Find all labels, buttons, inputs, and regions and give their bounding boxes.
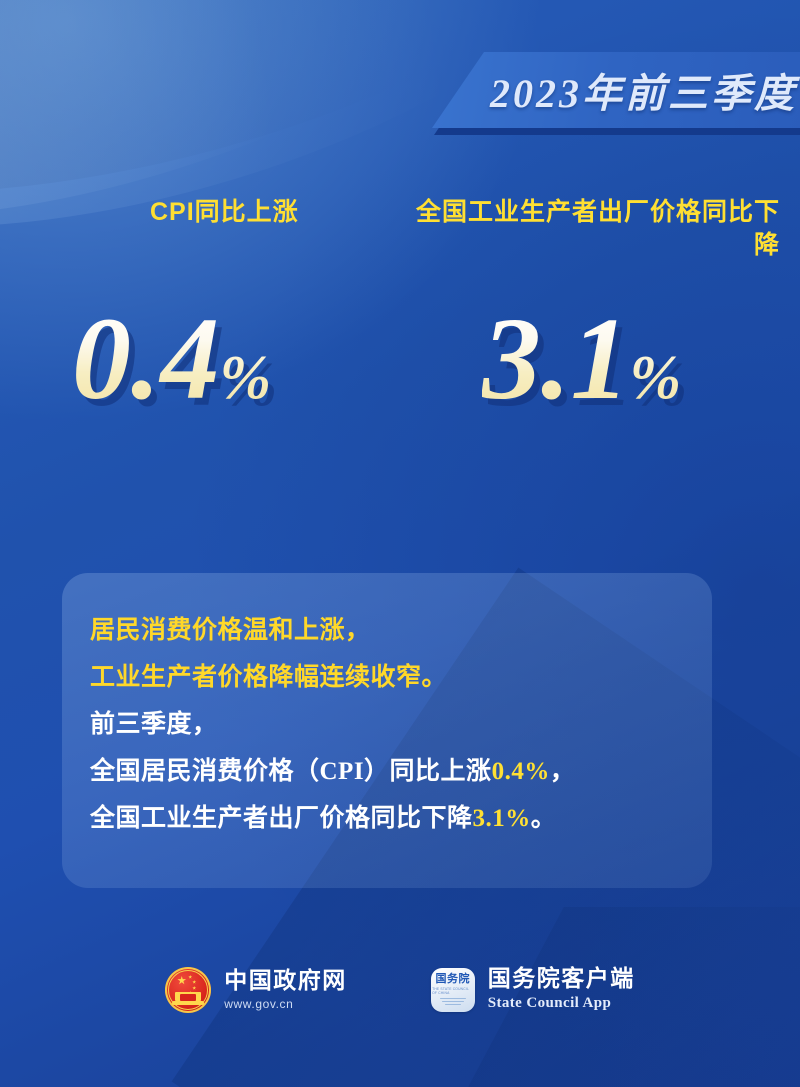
emblem-base bbox=[172, 1001, 204, 1005]
logo-gov-cn[interactable]: 中国政府网 www.gov.cn bbox=[165, 967, 347, 1013]
summary-line-1: 居民消费价格温和上涨， bbox=[90, 607, 690, 654]
stat-cpi-label: CPI同比上涨 bbox=[150, 196, 299, 229]
logo-state-council-sub: State Council App bbox=[488, 992, 635, 1015]
summary-line-4-tail: ， bbox=[550, 758, 576, 785]
period-banner: 2023年前三季度 bbox=[432, 52, 800, 128]
stat-ppi-unit: % bbox=[630, 344, 682, 412]
stat-ppi-value: 3.1 bbox=[482, 293, 630, 424]
logo-state-council-text: 国务院客户端 State Council App bbox=[488, 965, 635, 1015]
summary-line-5: 全国工业生产者出厂价格同比下降3.1%。 bbox=[90, 795, 690, 842]
summary-line-2: 工业生产者价格降幅连续收窄。 bbox=[90, 654, 690, 701]
summary-card: 居民消费价格温和上涨， 工业生产者价格降幅连续收窄。 前三季度， 全国居民消费价… bbox=[62, 573, 712, 888]
app-icon-label: 国务院 bbox=[436, 973, 471, 985]
footer-logo-row: 中国政府网 www.gov.cn 国务院 THE STATE COUNCIL O… bbox=[0, 955, 800, 1025]
stat-ppi: 全国工业生产者出厂价格同比下降 bbox=[394, 196, 780, 262]
stat-cpi: CPI同比上涨 bbox=[150, 196, 299, 229]
app-icon-sublabel: THE STATE COUNCIL OF CHINA bbox=[432, 987, 474, 995]
logo-gov-cn-name: 中国政府网 bbox=[224, 967, 347, 994]
state-council-app-icon: 国务院 THE STATE COUNCIL OF CHINA bbox=[431, 968, 475, 1012]
logo-gov-cn-url: www.gov.cn bbox=[224, 995, 347, 1013]
summary-line-3: 前三季度， bbox=[90, 701, 690, 748]
infographic-poster: 2023年前三季度 CPI同比上涨 全国工业生产者出厂价格同比下降 0.4% 3… bbox=[0, 0, 800, 1087]
period-banner-title: 2023年前三季度 bbox=[490, 61, 797, 119]
logo-gov-cn-text: 中国政府网 www.gov.cn bbox=[224, 967, 347, 1012]
app-icon-decor-lines bbox=[440, 998, 466, 1007]
period-banner-plate: 2023年前三季度 bbox=[432, 52, 800, 128]
summary-line-4-text: 全国居民消费价格（CPI）同比上涨 bbox=[90, 758, 492, 785]
logo-state-council-name: 国务院客户端 bbox=[488, 965, 635, 992]
summary-line-5-text: 全国工业生产者出厂价格同比下降 bbox=[90, 805, 473, 832]
summary-line-5-highlight: 3.1% bbox=[473, 805, 531, 832]
national-emblem-icon bbox=[165, 967, 211, 1013]
stat-ppi-value-group: 3.1% bbox=[482, 300, 681, 418]
summary-line-4-highlight: 0.4% bbox=[492, 758, 550, 785]
logo-state-council-app[interactable]: 国务院 THE STATE COUNCIL OF CHINA 国务院客户端 St… bbox=[431, 965, 635, 1015]
stat-cpi-unit: % bbox=[220, 344, 272, 412]
emblem-gate bbox=[175, 992, 201, 1001]
stat-cpi-value: 0.4 bbox=[72, 293, 220, 424]
summary-card-text: 居民消费价格温和上涨， 工业生产者价格降幅连续收窄。 前三季度， 全国居民消费价… bbox=[90, 607, 690, 842]
stat-ppi-label: 全国工业生产者出厂价格同比下降 bbox=[394, 196, 780, 262]
summary-line-4: 全国居民消费价格（CPI）同比上涨0.4%， bbox=[90, 748, 690, 795]
summary-line-5-tail: 。 bbox=[531, 805, 557, 832]
stat-cpi-value-group: 0.4% bbox=[72, 300, 271, 418]
